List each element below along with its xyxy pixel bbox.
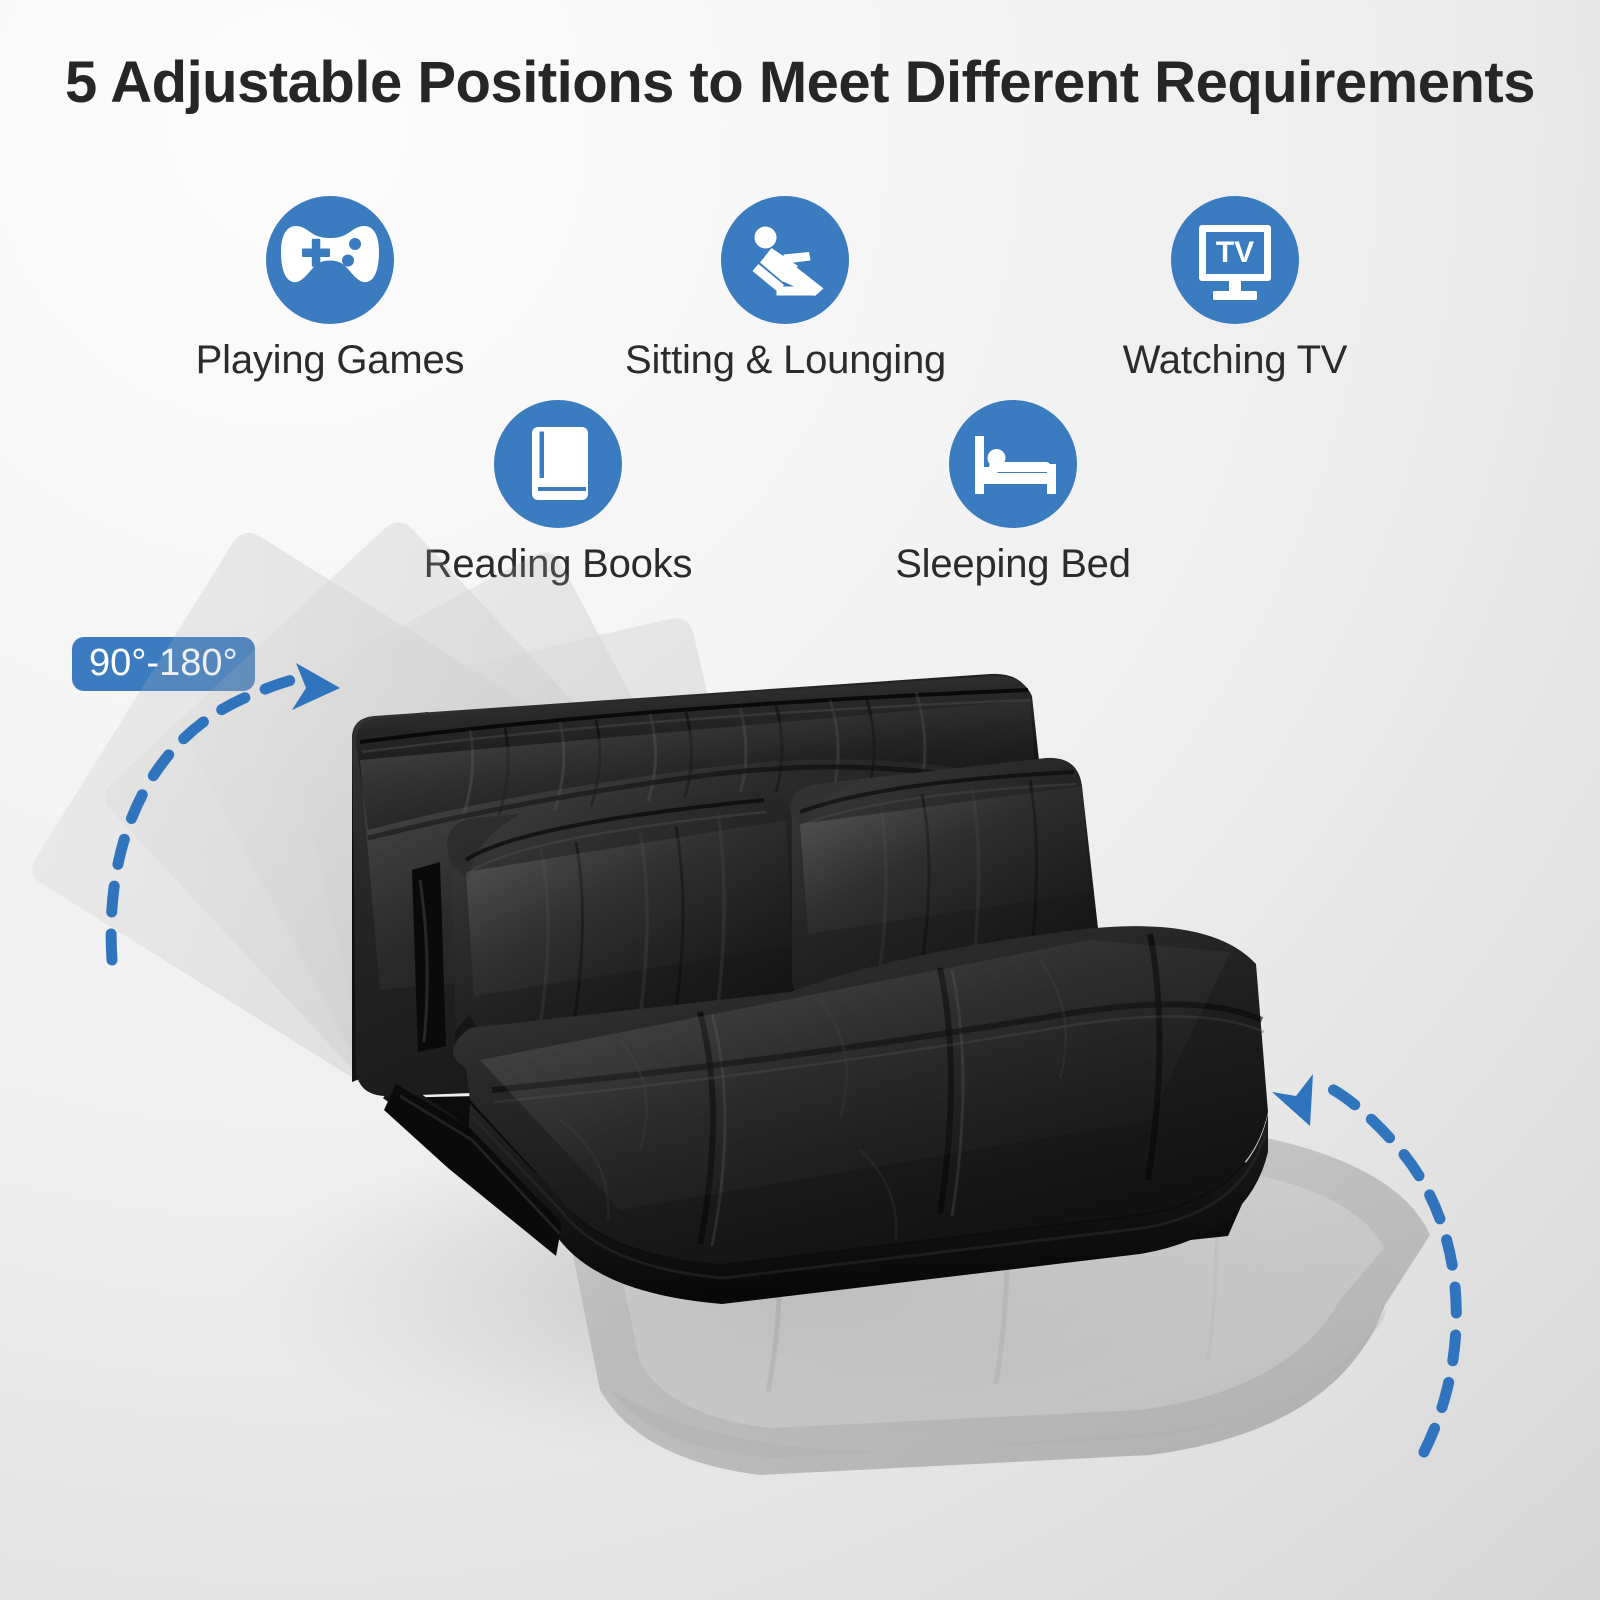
- infographic-canvas: 5 Adjustable Positions to Meet Different…: [0, 0, 1600, 1600]
- product-illustration: [0, 0, 1600, 1600]
